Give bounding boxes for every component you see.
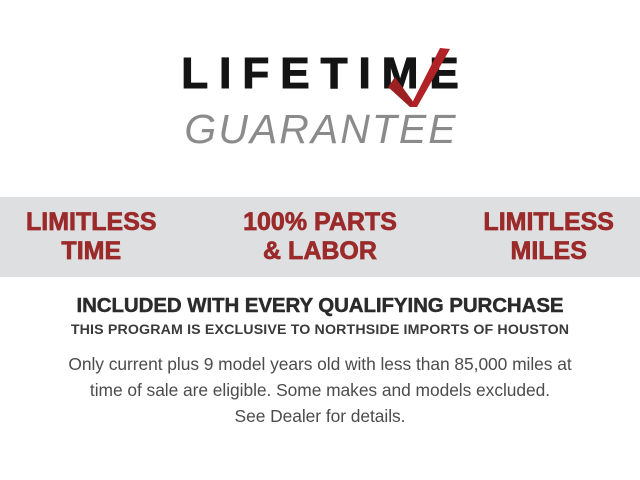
- feature-line-2: & LABOR: [243, 237, 397, 266]
- wordmark-lifetime: LIFETIME: [170, 48, 469, 100]
- feature-limitless-miles: LIMITLESS MILES: [483, 208, 614, 266]
- wordmark-primary-row: LIFETIME: [0, 48, 640, 100]
- fineprint-line: Only current plus 9 model years old with…: [0, 351, 640, 377]
- feature-line-1: 100% PARTS: [243, 208, 397, 236]
- fineprint-line: time of sale are eligible. Some makes an…: [0, 377, 640, 403]
- feature-highlights-band: LIMITLESS TIME 100% PARTS & LABOR LIMITL…: [0, 197, 640, 277]
- feature-parts-and-labor: 100% PARTS & LABOR: [243, 208, 397, 266]
- feature-line-1: LIMITLESS: [26, 208, 157, 236]
- headline-subtitle: THIS PROGRAM IS EXCLUSIVE TO NORTHSIDE I…: [0, 320, 640, 340]
- lifetime-guarantee-logo: LIFETIME GUARANTEE: [0, 48, 640, 156]
- fineprint-disclaimer: Only current plus 9 model years old with…: [0, 351, 640, 429]
- feature-line-2: MILES: [483, 237, 614, 266]
- headline-block: INCLUDED WITH EVERY QUALIFYING PURCHASE …: [0, 294, 640, 340]
- feature-line-1: LIMITLESS: [483, 208, 614, 236]
- headline-primary: INCLUDED WITH EVERY QUALIFYING PURCHASE: [0, 294, 640, 318]
- fineprint-line: See Dealer for details.: [0, 403, 640, 429]
- wordmark-secondary-row: GUARANTEE: [0, 106, 640, 152]
- wordmark-guarantee: GUARANTEE: [182, 106, 457, 152]
- feature-line-2: TIME: [26, 237, 157, 266]
- feature-limitless-time: LIMITLESS TIME: [26, 208, 157, 266]
